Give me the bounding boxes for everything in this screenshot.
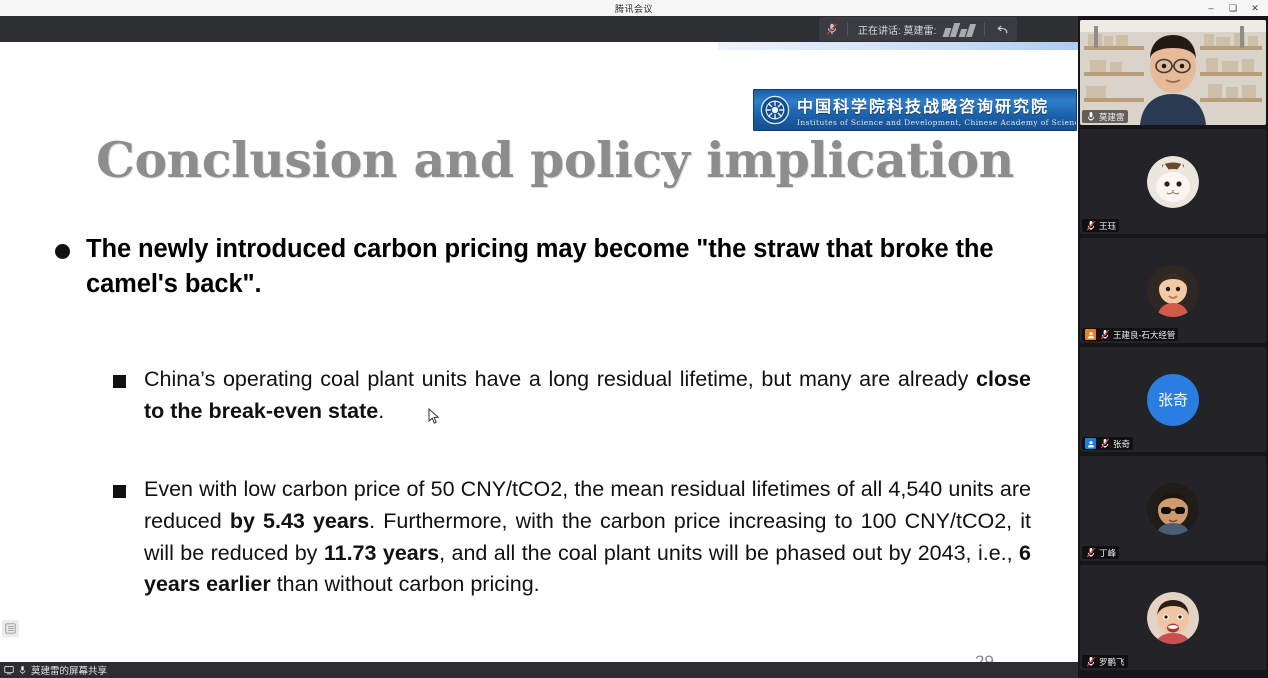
cohost-badge-icon bbox=[1085, 438, 1096, 449]
tencent-meeting-window: 腾讯会议 – ❑ ✕ 正在讲话: 莫建雷: bbox=[0, 0, 1268, 678]
mic-muted-icon bbox=[1099, 329, 1110, 340]
divider bbox=[847, 22, 848, 36]
bullet-level2-text: Even with low carbon price of 50 CNY/tCO… bbox=[144, 474, 1031, 601]
divider bbox=[984, 22, 985, 36]
institute-emblem-icon bbox=[757, 94, 793, 126]
mouse-cursor bbox=[428, 408, 440, 425]
shared-screen-area: 中国科学院科技战略咨询研究院 Institutes of Science and… bbox=[0, 42, 1078, 662]
logo-chinese-name: 中国科学院科技战略咨询研究院 bbox=[797, 93, 1077, 117]
participant-name: 张奇 bbox=[1113, 438, 1130, 450]
square-bullet-icon bbox=[113, 485, 126, 498]
participant-rail[interactable]: 莫建雷 bbox=[1078, 16, 1268, 678]
participant-label: 丁峰 bbox=[1082, 546, 1119, 559]
avatar bbox=[1147, 483, 1199, 535]
participant-tile[interactable]: 罗鹏飞 bbox=[1080, 565, 1266, 670]
mic-muted-icon bbox=[1085, 547, 1096, 558]
window-title: 腾讯会议 bbox=[615, 2, 653, 15]
screen-share-icon bbox=[3, 665, 14, 676]
screen-share-status-bar: 莫建雷的屏幕共享 bbox=[0, 662, 1078, 678]
mic-muted-icon bbox=[823, 20, 841, 38]
participant-label: 王珏 bbox=[1082, 219, 1119, 232]
slide-title: Conclusion and policy implication bbox=[96, 134, 1016, 187]
slide-page-number: 29 bbox=[975, 652, 1035, 662]
participant-label: 罗鹏飞 bbox=[1082, 655, 1128, 668]
slide-decoration-bar bbox=[718, 42, 1078, 50]
screen-share-owner-label: 莫建雷的屏幕共享 bbox=[31, 663, 107, 677]
participant-tile[interactable]: 丁峰 bbox=[1080, 456, 1266, 561]
minimize-button[interactable]: – bbox=[1200, 0, 1222, 16]
participant-name: 王珏 bbox=[1099, 220, 1116, 232]
bullet-level1-text: The newly introduced carbon pricing may … bbox=[86, 232, 1030, 302]
mic-muted-icon bbox=[1085, 656, 1096, 667]
participant-label: 莫建雷 bbox=[1082, 110, 1128, 123]
host-badge-icon bbox=[1085, 329, 1096, 340]
participant-tile[interactable]: 莫建雷 bbox=[1080, 20, 1266, 125]
bullet-level2: Even with low carbon price of 50 CNY/tCO… bbox=[113, 474, 1031, 601]
mic-muted-icon bbox=[1085, 220, 1096, 231]
avatar bbox=[1147, 265, 1199, 317]
participant-label: 王建良-石大经管 bbox=[1082, 328, 1178, 341]
participant-name: 丁峰 bbox=[1099, 547, 1116, 559]
slide-menu-icon[interactable] bbox=[2, 620, 19, 637]
participant-tile[interactable]: 王建良-石大经管 bbox=[1080, 238, 1266, 343]
return-arrow-icon[interactable] bbox=[991, 20, 1013, 38]
maximize-button[interactable]: ❑ bbox=[1222, 0, 1244, 16]
audio-wave-icon bbox=[940, 21, 978, 37]
avatar bbox=[1147, 156, 1199, 208]
participant-name: 莫建雷 bbox=[1099, 111, 1125, 123]
mic-muted-icon bbox=[1099, 438, 1110, 449]
avatar bbox=[1147, 592, 1199, 644]
microphone-icon bbox=[17, 665, 28, 676]
participant-name: 罗鹏飞 bbox=[1099, 656, 1125, 668]
participant-name: 王建良-石大经管 bbox=[1113, 329, 1175, 341]
participant-tile[interactable]: 张奇 张奇 bbox=[1080, 347, 1266, 452]
microphone-icon bbox=[1085, 111, 1096, 122]
square-bullet-icon bbox=[113, 375, 126, 388]
participant-tile[interactable]: 王珏 bbox=[1080, 129, 1266, 234]
powerpoint-slide: 中国科学院科技战略咨询研究院 Institutes of Science and… bbox=[0, 42, 1078, 662]
institute-logo: 中国科学院科技战略咨询研究院 Institutes of Science and… bbox=[753, 89, 1077, 131]
participant-label: 张奇 bbox=[1082, 437, 1133, 450]
avatar-initials: 张奇 bbox=[1147, 374, 1199, 426]
bullet-level2: China’s operating coal plant units have … bbox=[113, 364, 1031, 428]
bullet-level2-text: China’s operating coal plant units have … bbox=[144, 364, 1031, 428]
window-controls: – ❑ ✕ bbox=[1200, 0, 1266, 16]
bullet-level1: The newly introduced carbon pricing may … bbox=[55, 232, 1030, 302]
close-button[interactable]: ✕ bbox=[1244, 0, 1266, 16]
logo-english-name: Institutes of Science and Development, C… bbox=[797, 118, 1077, 127]
speaking-label: 正在讲话: 莫建雷: bbox=[854, 22, 940, 37]
active-speaker-indicator[interactable]: 正在讲话: 莫建雷: bbox=[819, 17, 1017, 41]
round-bullet-icon bbox=[55, 244, 70, 259]
window-title-bar: 腾讯会议 – ❑ ✕ bbox=[0, 0, 1268, 17]
